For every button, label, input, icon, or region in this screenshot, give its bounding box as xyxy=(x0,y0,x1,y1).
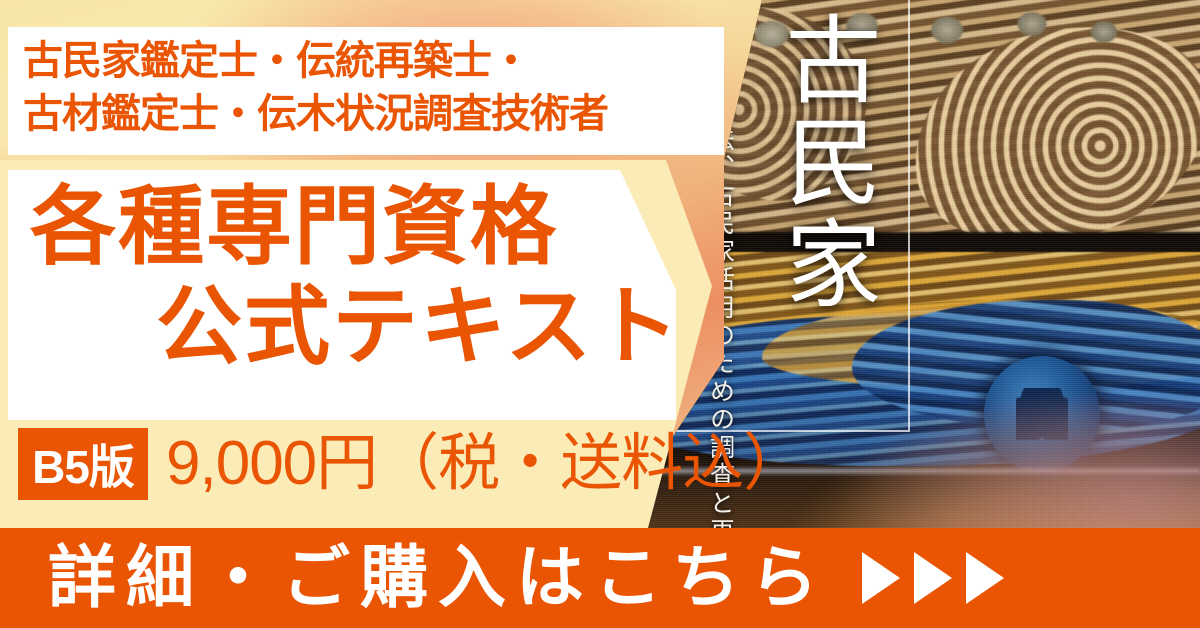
cta-arrow-group xyxy=(862,552,1004,604)
cta-bar[interactable]: 詳細・ご購入はこちら xyxy=(0,528,1200,628)
headline-line-1: 各種専門資格 xyxy=(30,184,558,270)
cta-label: 詳細・ご購入はこちら xyxy=(48,544,828,612)
price-label: 9,000円（税・送料込） xyxy=(166,430,804,498)
size-badge: B5版 xyxy=(18,428,148,500)
certifications-box: 古民家鑑定士・伝統再築士・ 古材鑑定士・伝木状況調査技術者 xyxy=(8,27,724,155)
certifications-line-2: 古材鑑定士・伝木状況調査技術者 xyxy=(8,88,724,141)
triangle-right-icon xyxy=(862,552,900,604)
headline-box: 各種専門資格 公式テキスト xyxy=(8,170,676,420)
promo-banner: 古民家 伝統構法、古民家活用のための調査と再生の 古民家鑑定士・伝統再築士・ 古… xyxy=(0,0,1200,628)
triangle-right-icon xyxy=(914,552,952,604)
headline-line-2: 公式テキスト xyxy=(156,284,681,370)
triangle-right-icon xyxy=(966,552,1004,604)
book-cover-title: 古民家 xyxy=(762,10,885,316)
certifications-line-1: 古民家鑑定士・伝統再築士・ xyxy=(8,27,724,88)
